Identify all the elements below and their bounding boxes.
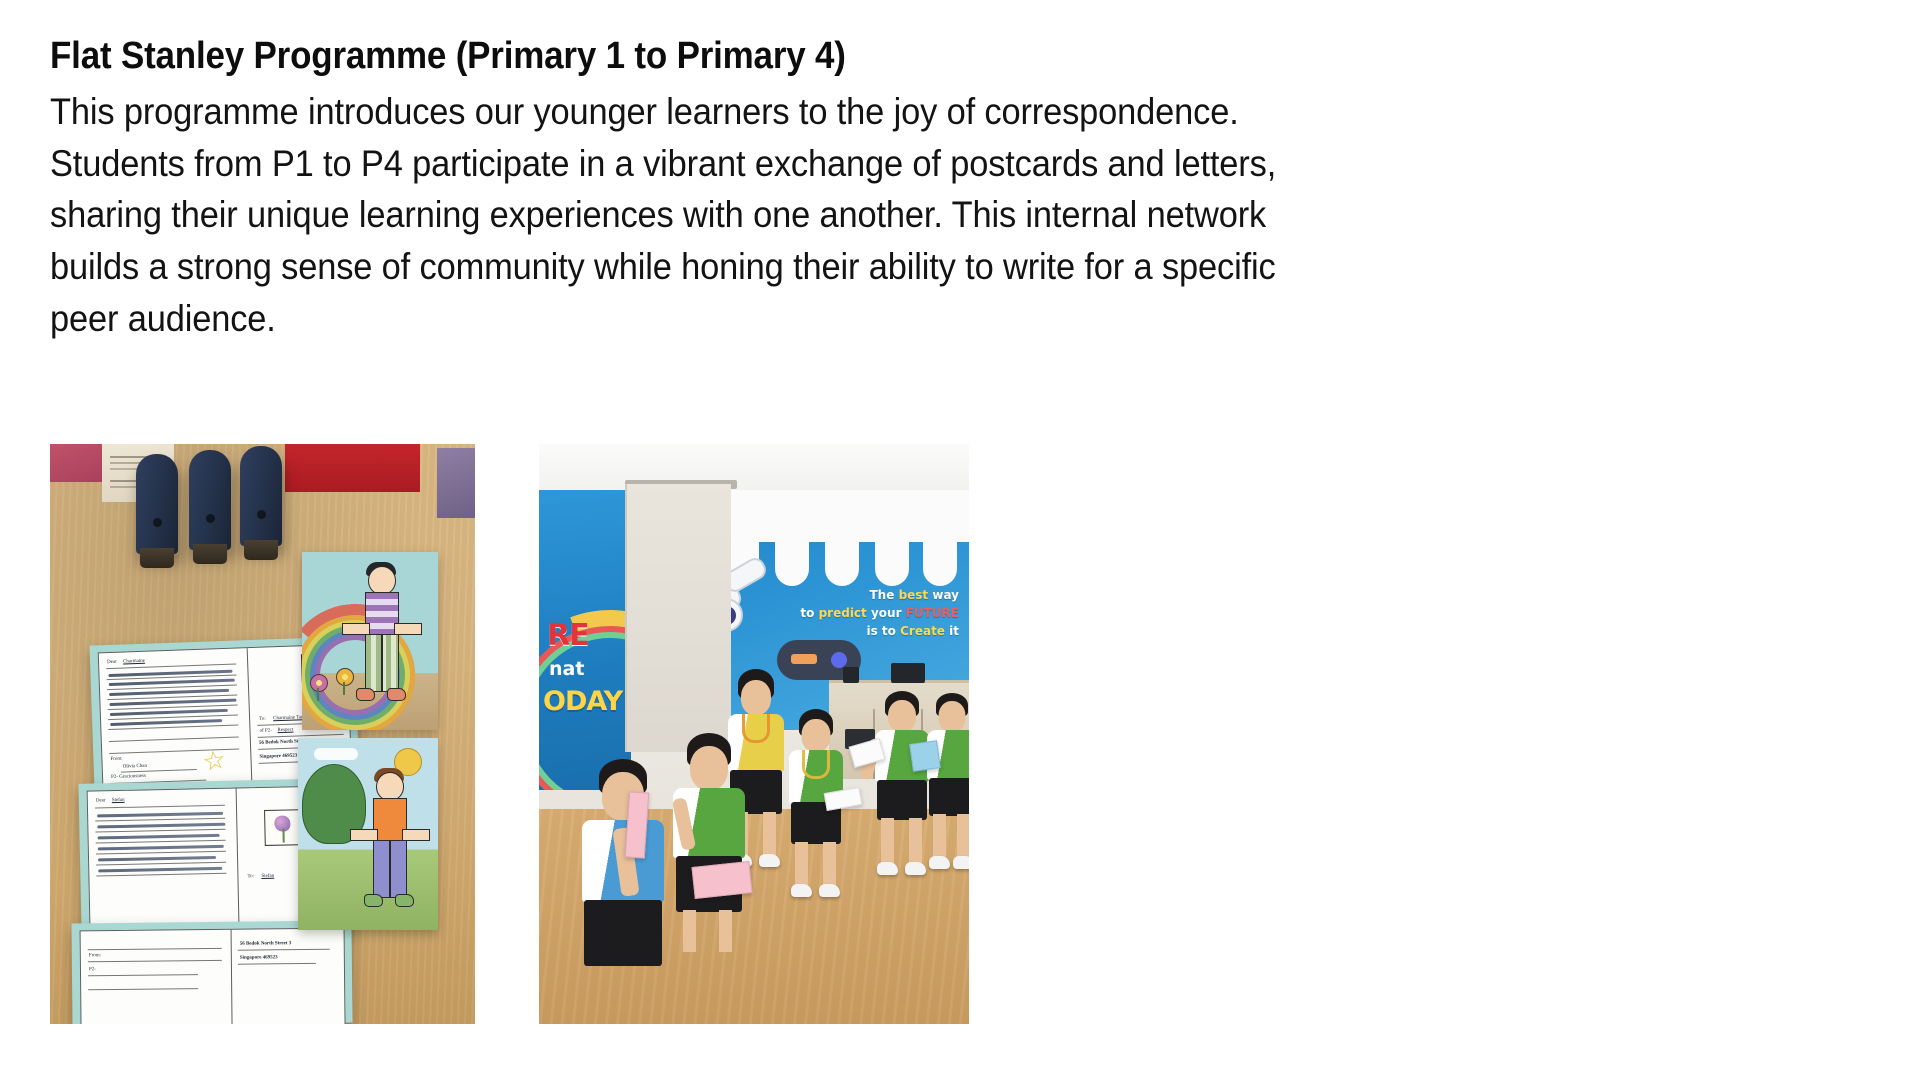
uniform-shorts [584, 900, 662, 966]
mural-line2-highlight: predict [819, 606, 867, 620]
leg [763, 812, 776, 856]
blue-card [909, 740, 941, 772]
body-line-4: builds a strong sense of community while… [50, 241, 1775, 293]
figure-shoe [364, 894, 383, 907]
shoe [953, 856, 969, 869]
mural-slogan: The best way to predict your FUTURE is t… [791, 586, 959, 640]
figure-trousers [365, 634, 399, 692]
leg [795, 842, 808, 886]
postcard: From: P2- 56 Bedok North Street 3 Singap… [71, 921, 352, 1024]
lanyard [802, 750, 830, 779]
body-line-2: Students from P1 to P4 participate in a … [50, 138, 1775, 190]
body-line-1: This programme introduces our younger le… [50, 86, 1775, 138]
paper-figure [358, 566, 404, 716]
from-label: From: [89, 953, 101, 958]
figure-row: Dear Charmaine [50, 444, 969, 1024]
salutation-label: Dear [107, 660, 117, 665]
head [888, 700, 916, 732]
body-line-5: peer audience. [50, 293, 1775, 345]
salutation-label: Dear [96, 798, 106, 803]
to-label: To: [247, 874, 254, 879]
shoe [791, 884, 812, 897]
red-box [285, 444, 420, 492]
vertical-banner: RE nat ODAY [539, 490, 631, 790]
leg [881, 818, 894, 864]
from-label: From: [110, 757, 122, 762]
banner-word-2: nat [549, 658, 584, 680]
pink-shelf-card [50, 444, 110, 482]
figure-shirt [373, 798, 407, 842]
monitor [891, 663, 925, 683]
address-line-1: 56 Bedok North Street 3 [240, 941, 292, 947]
mural-line1-prefix: The [870, 588, 895, 602]
purple-box [437, 448, 475, 518]
mural-line2-suffix: your [871, 606, 902, 620]
uniform-shorts [929, 778, 969, 816]
flat-stanley-figure-garden [298, 738, 438, 930]
figure-head [368, 566, 396, 595]
leg [683, 910, 696, 952]
student [785, 712, 847, 912]
mural-line2-accent: FUTURE [906, 606, 959, 620]
salutation-name: Charmaine [123, 659, 145, 665]
stamp-tool [189, 450, 231, 550]
flat-stanley-postcards-photo: Dear Charmaine [50, 444, 475, 1024]
student [575, 762, 671, 1024]
postcard-face: From: P2- 56 Bedok North Street 3 Singap… [80, 928, 346, 1024]
paper-figure [366, 772, 412, 922]
flower-drawing [336, 668, 352, 694]
postage-stamp [264, 809, 301, 846]
head [690, 746, 728, 790]
head [802, 719, 831, 752]
shoe [759, 854, 780, 867]
address-line-2: Singapore 469523 [240, 955, 278, 960]
flower-drawing [310, 674, 326, 700]
to-name: Charmaine Tan [273, 715, 304, 721]
students-exchanging-letters-photo: The best way to predict your FUTURE is t… [539, 444, 969, 1024]
stamp-tool [136, 454, 178, 554]
figure-head [376, 772, 404, 801]
body-line-3: sharing their unique learning experience… [50, 189, 1775, 241]
figure-trousers [373, 840, 407, 898]
mural-line2-prefix: to [800, 606, 814, 620]
to-class-label: of P2- [259, 728, 272, 733]
cloud-drawing [314, 748, 358, 760]
classroom: The best way to predict your FUTURE is t… [539, 444, 969, 1024]
leg [957, 814, 969, 858]
from-class: P2- Graciousness [111, 774, 146, 780]
uniform-shorts [877, 780, 927, 820]
banner-word-3: ODAY [543, 686, 622, 717]
banner-word-1: RE [547, 618, 589, 653]
head [741, 680, 771, 715]
leg [719, 910, 732, 952]
leg [933, 814, 946, 858]
star-doodle: ☆ [200, 746, 227, 776]
figure-shoe [387, 688, 406, 701]
mural-line3-prefix: is to [867, 624, 896, 638]
article-paragraph: This programme introduces our younger le… [50, 86, 1775, 345]
student [667, 736, 751, 966]
shoe [929, 856, 950, 869]
page-title: Flat Stanley Programme (Primary 1 to Pri… [50, 34, 1770, 79]
head [939, 701, 966, 732]
to-label: To: [259, 717, 266, 722]
pink-letter-card [691, 861, 752, 899]
mural-line3-suffix: it [949, 624, 959, 638]
banner-rainbow [539, 574, 631, 790]
from-class: P2- [89, 967, 96, 972]
shoe [819, 884, 840, 897]
salutation-name: Stefan [112, 798, 125, 803]
leg [823, 842, 836, 886]
to-name: Stefan [261, 874, 274, 879]
projector-screen [625, 484, 731, 752]
microscope [843, 667, 859, 683]
mural-line1-suffix: way [932, 588, 959, 602]
figure-shirt [365, 592, 399, 636]
from-name: Olivia Chan [123, 764, 147, 770]
flat-stanley-figure-rainbow [302, 552, 438, 730]
student [921, 696, 969, 902]
figure-shoe [395, 894, 414, 907]
mural-line1-highlight: best [899, 588, 929, 602]
mural-line3-highlight: Create [900, 624, 945, 638]
shoe [877, 862, 898, 875]
address-line-2: Singapore 469523 [259, 753, 297, 759]
to-class: Respect [277, 728, 293, 734]
page-root: Flat Stanley Programme (Primary 1 to Pri… [0, 0, 1920, 1080]
stamp-tool [240, 446, 282, 546]
figure-shoe [356, 688, 375, 701]
